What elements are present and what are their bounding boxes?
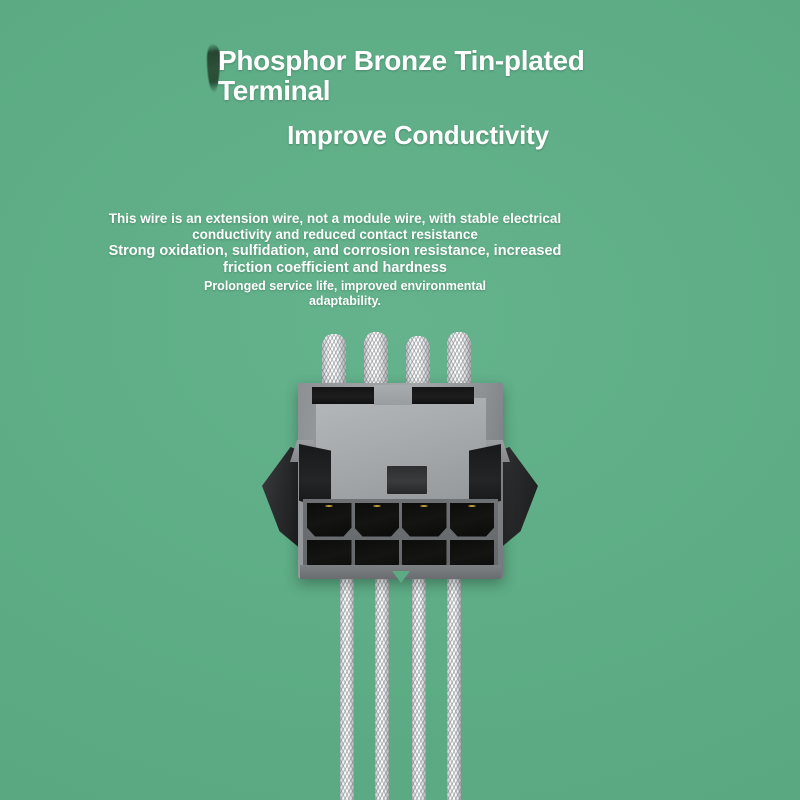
terminal-pin-icon [373,505,380,507]
cable-bottom-4 [447,575,461,800]
cable-bottom-3 [412,575,426,800]
terminal-pin-icon [421,505,428,507]
terminal-pin-icon [326,505,333,507]
cavity-r1c3 [402,503,447,537]
cable-top-4 [447,332,471,390]
cable-bottom-2 [375,575,389,800]
cable-top-2 [364,332,388,390]
cavity-r1c2 [355,503,400,537]
cable-top-3 [406,336,430,390]
housing-slot-left [312,387,374,404]
cavity-r1c1 [307,503,352,537]
product-image-connector [0,0,800,800]
housing-slot-divider [374,385,412,405]
cavity-r1c4 [450,503,495,537]
cable-bottom-1 [340,575,354,800]
housing-slot-right [412,387,474,404]
cable-top-1 [322,334,346,390]
connector-keying-tab [387,466,427,494]
terminal-pin-icon [468,505,475,507]
